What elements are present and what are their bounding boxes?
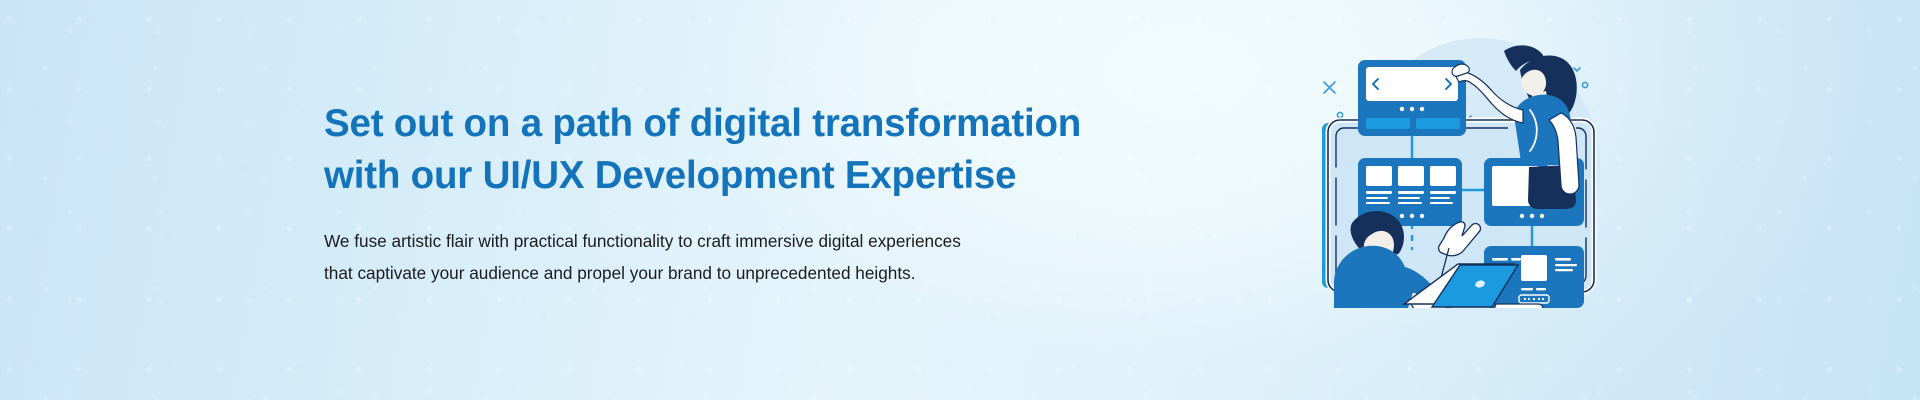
hero-banner: Set out on a path of digital transformat…	[0, 0, 1920, 400]
hero-subcopy: We fuse artistic flair with practical fu…	[324, 201, 1154, 289]
carousel-dots	[1400, 107, 1424, 111]
hero-copy-block: Set out on a path of digital transformat…	[324, 98, 1154, 289]
top-carousel-card	[1358, 60, 1466, 136]
page-title: Set out on a path of digital transformat…	[324, 98, 1154, 201]
uiux-team-wireframe-illustration	[1308, 18, 1628, 308]
